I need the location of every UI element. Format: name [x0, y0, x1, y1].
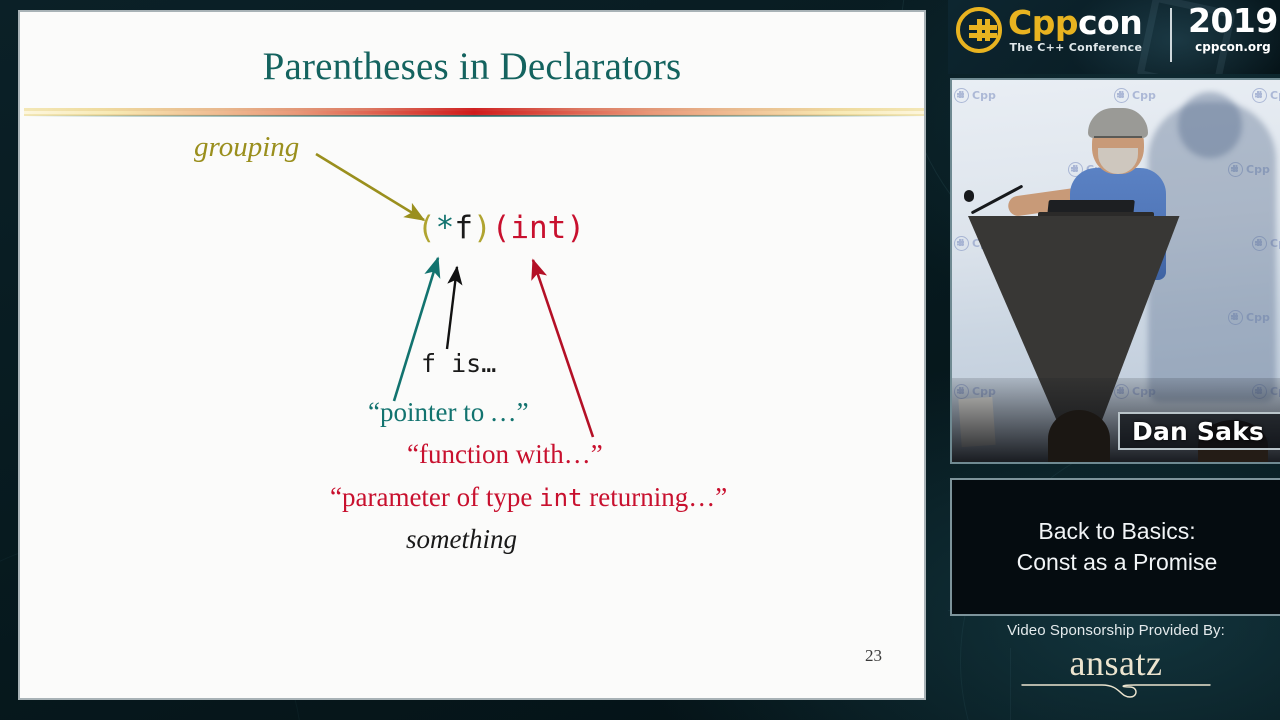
backdrop-cpp-tile: Cpp: [954, 88, 996, 103]
label-parameter-type: int: [539, 484, 582, 512]
sponsor-label: Video Sponsorship Provided By:: [950, 622, 1280, 639]
slide-title: Parentheses in Declarators: [20, 44, 924, 89]
slide-panel: Parentheses in Declarators: [18, 10, 926, 700]
speaker-name-badge: Dan Saks: [1118, 412, 1280, 450]
cpp-tile-label: Cpp: [1270, 89, 1280, 102]
arrow-function-with: [533, 260, 593, 437]
label-f-is: f is…: [421, 348, 496, 379]
backdrop-cpp-tile: Cpp: [1252, 88, 1280, 103]
cpp-plus-circle-icon: [954, 236, 969, 251]
cpp-tile-label: Cpp: [972, 89, 996, 102]
title-divider-rule: [24, 108, 924, 117]
logo-year-block: 2019 cppcon.org: [1188, 4, 1278, 54]
label-function-with: “function with…”: [407, 439, 603, 470]
slide-page-number: 23: [865, 646, 882, 666]
code-open-paren: (: [417, 210, 436, 246]
cppcon-name: Cppcon: [1008, 6, 1142, 39]
code-star: *: [436, 210, 455, 246]
speaker-video-panel[interactable]: CppCppCppCppCppCppCppCppCppCppCppCppCppC…: [950, 78, 1280, 464]
cpp-plus-circle-icon: [954, 88, 969, 103]
logo-cpp-text: Cpp: [1008, 3, 1078, 42]
code-close-paren: ): [473, 210, 492, 246]
code-expression: (*f)(int): [417, 210, 585, 246]
microphone-head-icon: [964, 190, 974, 202]
label-f-is-text: f is…: [421, 349, 496, 378]
cppcon-wordmark: Cppcon The C++ Conference: [956, 6, 1142, 54]
cppcon-plus-circle-icon: [956, 7, 1002, 53]
sponsor-block: Video Sponsorship Provided By: ansatz: [950, 622, 1280, 718]
speaker-glasses: [1094, 136, 1142, 146]
cpp-tile-label: Cpp: [1132, 89, 1156, 102]
logo-con-text: con: [1078, 3, 1142, 42]
label-parameter-suffix: returning…”: [583, 482, 728, 512]
arrow-pointer-to: [394, 258, 438, 401]
label-grouping: grouping: [194, 131, 299, 164]
label-something: something: [406, 524, 517, 555]
speaker-shadow-head: [1178, 92, 1242, 158]
backdrop-cpp-tile: Cpp: [1114, 88, 1156, 103]
code-parameter-list: (int): [492, 210, 585, 246]
conference-year: 2019: [1188, 4, 1278, 38]
talk-title-line-1: Back to Basics:: [1017, 516, 1218, 547]
talk-title-line-2: Const as a Promise: [1017, 547, 1218, 578]
sponsor-name: ansatz: [950, 643, 1280, 683]
label-pointer-to: “pointer to …”: [368, 397, 529, 428]
presentation-stage: Parentheses in Declarators: [0, 0, 1280, 720]
speaker-name-text: Dan Saks: [1120, 417, 1264, 446]
sponsor-flourish-icon: [1016, 679, 1216, 701]
audience-head: [1048, 410, 1110, 464]
cppcon-logo-bar: Cppcon The C++ Conference 2019 cppcon.or…: [948, 0, 1280, 74]
cpp-plus-circle-icon: [1252, 88, 1267, 103]
arrow-f-is: [447, 267, 457, 349]
talk-title-panel: Back to Basics: Const as a Promise: [950, 478, 1280, 616]
conference-tagline: The C++ Conference: [1008, 41, 1142, 54]
label-parameter-of-type: “parameter of type int returning…”: [330, 482, 727, 513]
talk-title: Back to Basics: Const as a Promise: [1007, 516, 1228, 578]
code-identifier: f: [454, 210, 473, 246]
conference-url: cppcon.org: [1195, 40, 1271, 54]
label-parameter-prefix: “parameter of type: [330, 482, 539, 512]
arrow-grouping: [316, 154, 424, 220]
logo-divider: [1170, 8, 1172, 62]
cpp-plus-circle-icon: [1114, 88, 1129, 103]
